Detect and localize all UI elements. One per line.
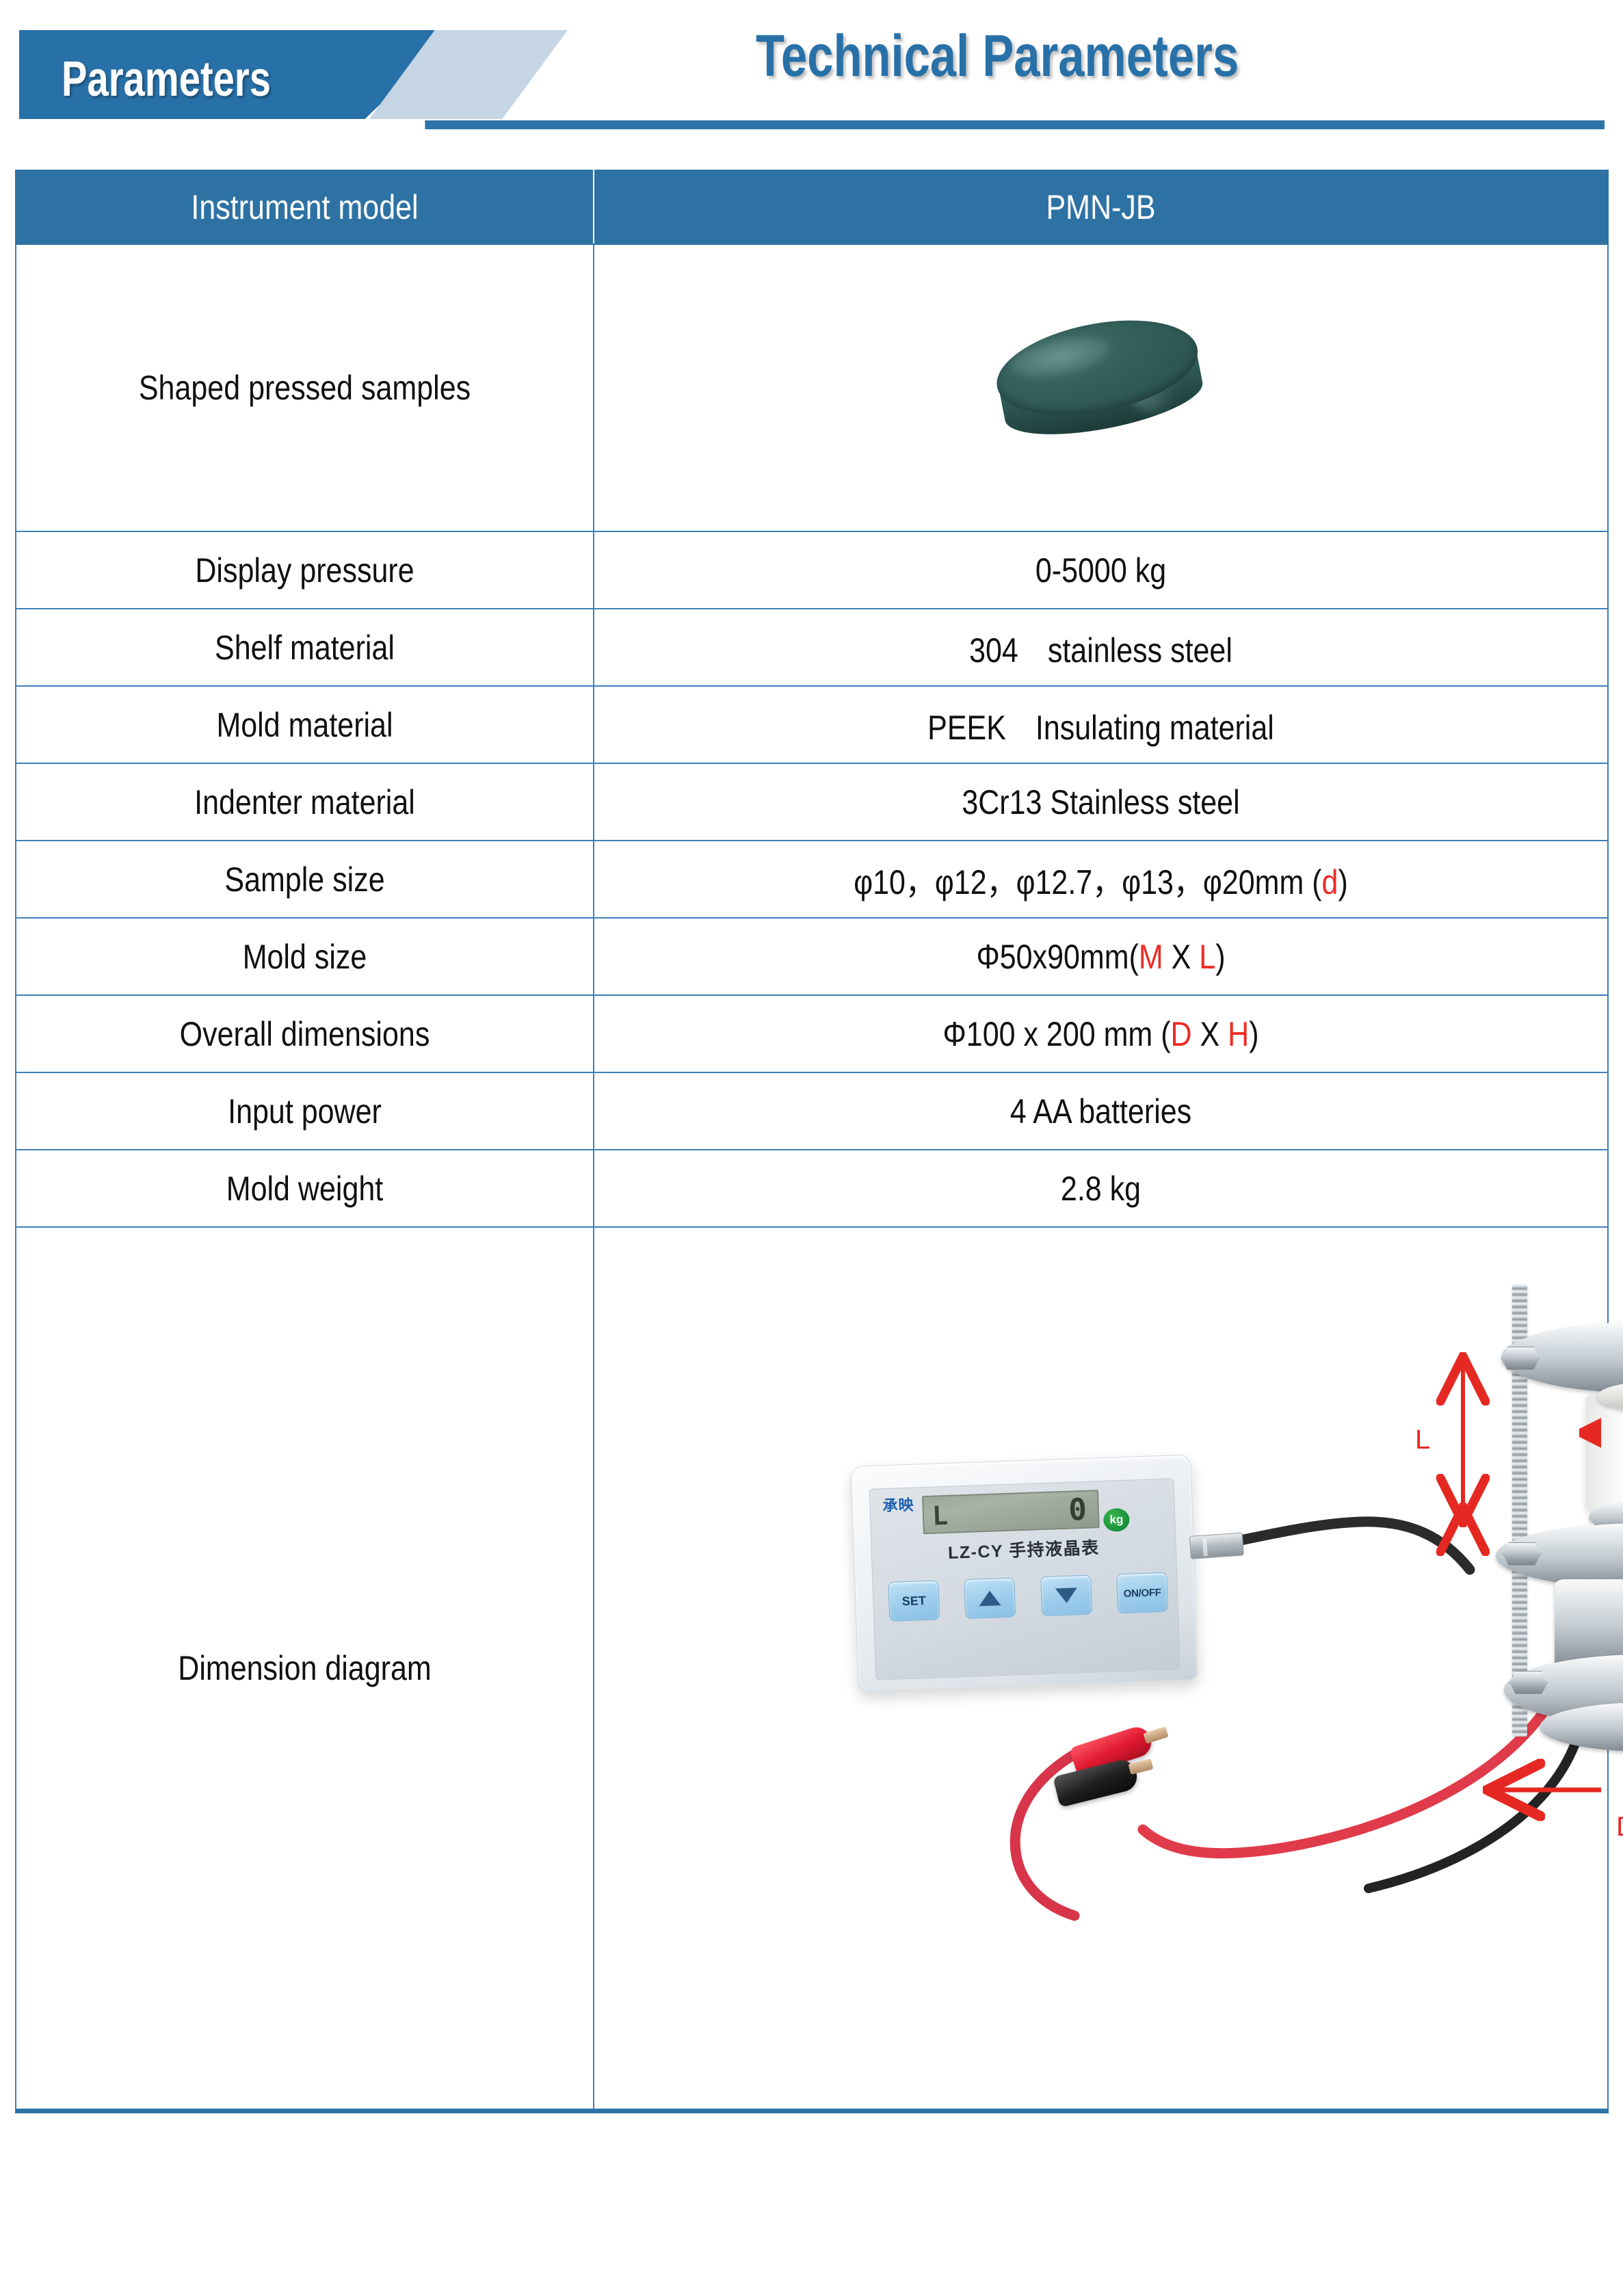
row-value-cell: 3Cr13 Stainless steel	[594, 763, 1608, 841]
table-row: Shelf material 304 stainless steel	[16, 609, 1608, 686]
row-label: Input power	[64, 1092, 545, 1131]
row-value: 2.8 kg	[672, 1169, 1529, 1209]
row-label-cell: Shelf material	[16, 609, 594, 686]
row-label: Overall dimensions	[64, 1014, 545, 1054]
row-label: Sample size	[64, 860, 545, 899]
row-label: Indenter material	[64, 782, 545, 822]
row-label-cell: Display pressure	[16, 531, 594, 609]
table-row: Indenter material 3Cr13 Stainless steel	[16, 763, 1608, 841]
row-value-cell: 4 AA batteries	[594, 1072, 1608, 1150]
row-label: Mold size	[64, 937, 545, 977]
row-label: Display pressure	[64, 551, 545, 590]
technical-parameters-table: Instrument model PMN-JB Shaped pressed s…	[15, 170, 1609, 2113]
row-value: 304 stainless steel	[672, 623, 1529, 672]
table-row: Mold material PEEK Insulating material	[16, 686, 1608, 763]
row-value-cell	[594, 244, 1608, 531]
row-label-cell: Indenter material	[16, 763, 594, 841]
row-label-cell: Input power	[16, 1072, 594, 1150]
dimension-label-D: D	[1616, 1813, 1623, 1840]
row-value-cell: 0-5000 kg	[594, 531, 1608, 609]
dimension-label-L: L	[1415, 1426, 1430, 1453]
row-value-cell: PEEK Insulating material	[594, 686, 1608, 763]
dimension-annotation-layer	[603, 1228, 1601, 2109]
table-row: Mold size Φ50x90mm(M X L)	[16, 918, 1608, 995]
row-label-cell: Mold size	[16, 918, 594, 995]
table-row: Display pressure 0-5000 kg	[16, 531, 1608, 609]
table-row: Overall dimensions Φ100 x 200 mm (D X H)	[16, 995, 1608, 1072]
row-label: Mold material	[64, 705, 545, 745]
table-row: Dimension diagram	[16, 1227, 1608, 2111]
row-label-cell: Shaped pressed samples	[16, 244, 594, 531]
row-value-cell: 304 stainless steel	[594, 609, 1608, 686]
row-label: Shaped pressed samples	[64, 368, 545, 408]
row-value: 3Cr13 Stainless steel	[672, 782, 1529, 822]
page-title: Technical Parameters	[756, 15, 1239, 97]
table-header-cell-label: Instrument model	[16, 170, 594, 244]
table-header-row: Instrument model PMN-JB	[16, 170, 1608, 244]
instrument-model-value: PMN-JB	[672, 187, 1529, 227]
row-value-cell: 2.8 kg	[594, 1150, 1608, 1227]
pellet-shape	[984, 300, 1217, 475]
row-label-cell: Sample size	[16, 841, 594, 918]
row-value: Φ100 x 200 mm (D X H)	[672, 1014, 1529, 1054]
row-value: 4 AA batteries	[672, 1092, 1529, 1131]
page-header: Parameters Technical Parameters	[0, 0, 1623, 137]
table-row: Sample size φ10，φ12，φ12.7，φ13，φ20mm (d)	[16, 841, 1608, 918]
row-label: Dimension diagram	[64, 1648, 545, 1688]
row-label-cell: Dimension diagram	[16, 1227, 594, 2111]
row-value: φ10，φ12，φ12.7，φ13，φ20mm (d)	[672, 855, 1529, 904]
row-value: 0-5000 kg	[672, 551, 1529, 590]
header-divider-rule	[19, 120, 1605, 129]
row-value: PEEK Insulating material	[672, 700, 1529, 750]
row-value-cell: 承映 L 0 kg LZ-CY 手持液晶表 SET ON/	[594, 1227, 1608, 2111]
row-label-cell: Overall dimensions	[16, 995, 594, 1072]
table-header-cell-value: PMN-JB	[594, 170, 1608, 244]
instrument-model-header: Instrument model	[64, 187, 545, 227]
row-value-cell: φ10，φ12，φ12.7，φ13，φ20mm (d)	[594, 841, 1608, 918]
row-value-cell: Φ100 x 200 mm (D X H)	[594, 995, 1608, 1072]
table-row: Mold weight 2.8 kg	[16, 1150, 1608, 1227]
row-label: Mold weight	[64, 1169, 545, 1209]
row-value: Φ50x90mm(M X L)	[672, 937, 1529, 977]
header-banner-label: Parameters	[62, 40, 271, 119]
row-label-cell: Mold weight	[16, 1150, 594, 1227]
row-value-cell: Φ50x90mm(M X L)	[594, 918, 1608, 995]
table-row: Shaped pressed samples	[16, 244, 1608, 531]
row-label-cell: Mold material	[16, 686, 594, 763]
table-row: Input power 4 AA batteries	[16, 1072, 1608, 1150]
row-label: Shelf material	[64, 628, 545, 668]
dimension-diagram-illustration: 承映 L 0 kg LZ-CY 手持液晶表 SET ON/	[603, 1228, 1599, 2109]
pressed-pellet-illustration	[603, 245, 1599, 531]
